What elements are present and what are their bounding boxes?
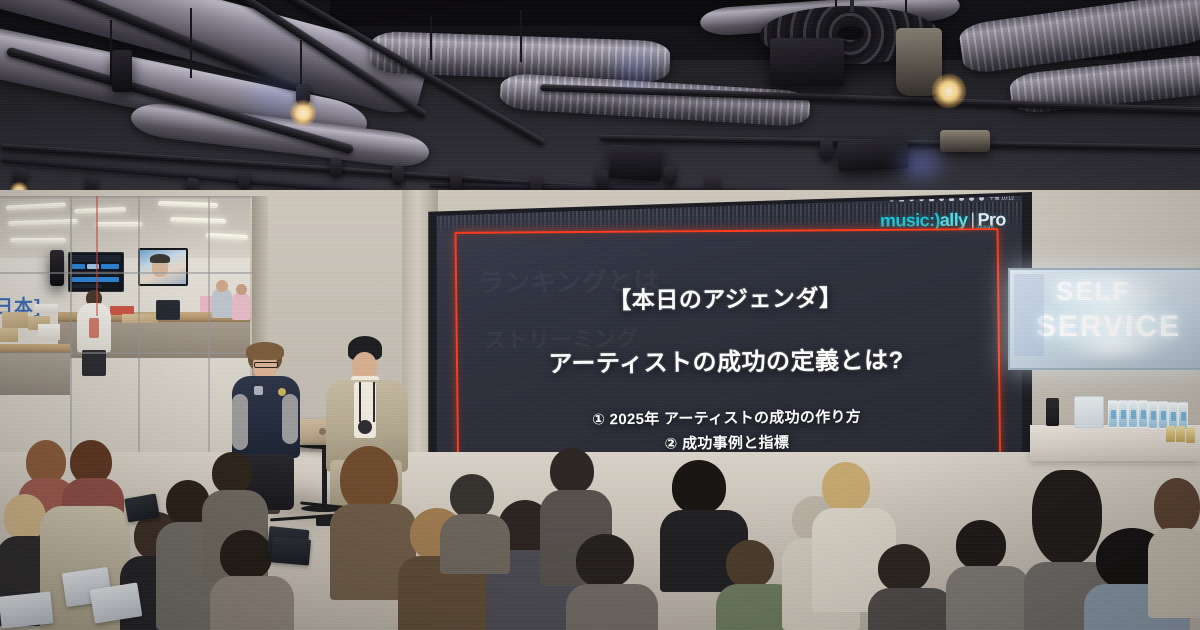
pa-speaker xyxy=(609,144,663,182)
track-light xyxy=(450,172,462,191)
display-icon[interactable] xyxy=(929,196,934,201)
menu-window[interactable]: ウインドウ xyxy=(659,198,685,205)
agenda-item-1: ① 2025年 アーティストの成功の作り方 xyxy=(459,404,995,431)
water-bottle xyxy=(1118,400,1128,428)
conference-photo: 日本] xyxy=(0,0,1200,630)
wall-speaker xyxy=(50,250,64,286)
attendee-tablet[interactable] xyxy=(271,536,311,565)
logo-divider: | xyxy=(971,210,975,230)
beverage-can xyxy=(1186,427,1195,443)
wall-tv xyxy=(138,248,188,286)
control-center-icon[interactable] xyxy=(979,196,984,201)
water-dispenser xyxy=(1074,396,1104,428)
slide-content: 【本日のアジェンダ】 アーティストの成功の定義とは? ① 2025年 アーティス… xyxy=(457,237,995,483)
office-area-behind-glass: 日本] xyxy=(0,196,250,461)
slide-subheading: アーティストの成功の定義とは? xyxy=(458,339,994,380)
wifi-icon[interactable] xyxy=(959,196,964,201)
water-bottle xyxy=(1148,401,1158,429)
coffee-machine xyxy=(1046,398,1059,426)
menu-arrange-place[interactable]: 配置 xyxy=(541,199,551,206)
logo-music-text: music xyxy=(880,210,929,231)
logo-ally-text: ally xyxy=(940,210,968,230)
dropbox-icon[interactable] xyxy=(889,197,894,202)
menubar-clock: 午後 10:12 xyxy=(989,196,1014,202)
attendee-laptop[interactable] xyxy=(0,591,54,628)
stage-light xyxy=(940,130,990,152)
track-light xyxy=(664,166,676,185)
track-light xyxy=(392,166,404,185)
menu-format[interactable]: フォーマット xyxy=(558,198,589,205)
slide-heading: 【本日のアジェンダ】 xyxy=(457,277,993,317)
track-light xyxy=(820,140,833,160)
track-light xyxy=(330,158,342,177)
glass-mullion xyxy=(0,272,252,274)
desk-monitor xyxy=(156,300,180,320)
presenter-glasses-icon xyxy=(254,362,278,368)
glass-mullion xyxy=(70,196,72,462)
menu-file[interactable]: ファイル xyxy=(478,199,499,206)
track-light xyxy=(596,170,608,189)
presenter-lanyard xyxy=(359,382,361,422)
glass-mullion xyxy=(0,196,252,198)
menu-play[interactable]: 再生 xyxy=(642,198,652,205)
pa-speaker xyxy=(112,50,132,92)
neon-sign-line-2: SERVICE xyxy=(1036,310,1181,344)
ceiling xyxy=(0,0,1200,215)
water-bottle xyxy=(1158,401,1168,429)
menu-arrange[interactable]: アレンジ xyxy=(596,198,617,205)
red-stripe xyxy=(96,196,98,316)
water-bottle xyxy=(1108,400,1118,428)
search-icon[interactable] xyxy=(969,196,974,201)
water-bottle xyxy=(1128,400,1138,428)
glass-mullion xyxy=(0,352,252,354)
cloud-icon[interactable] xyxy=(909,196,914,201)
beverage-can xyxy=(1176,426,1185,442)
menu-view[interactable]: 表示 xyxy=(624,198,634,205)
person-white-hoodie xyxy=(76,290,112,376)
neon-sign-panel: SELF SERVICE xyxy=(1008,268,1200,370)
battery-icon[interactable] xyxy=(949,196,954,201)
bluetooth-icon[interactable] xyxy=(919,196,924,201)
water-bottle xyxy=(1138,400,1148,428)
logo-smile-icon: :) xyxy=(929,210,940,230)
beverage-can xyxy=(1166,426,1175,442)
menu-help[interactable]: ヘルプ xyxy=(692,197,708,204)
apple-menu-icon[interactable]:  xyxy=(440,200,445,207)
menu-insert[interactable]: 挿入 xyxy=(523,199,533,206)
neon-sign-line-1: SELF xyxy=(1056,276,1130,307)
pa-speaker xyxy=(770,38,844,86)
glass-mullion xyxy=(138,196,140,462)
volume-icon[interactable] xyxy=(939,196,944,201)
menu-keynote[interactable]: Keynote xyxy=(452,200,471,206)
track-light xyxy=(238,172,250,190)
presenter-lanyard xyxy=(373,382,375,422)
menu-edit[interactable]: 編集 xyxy=(506,199,516,206)
zoom-icon[interactable] xyxy=(899,196,904,201)
glass-mullion xyxy=(208,196,210,462)
